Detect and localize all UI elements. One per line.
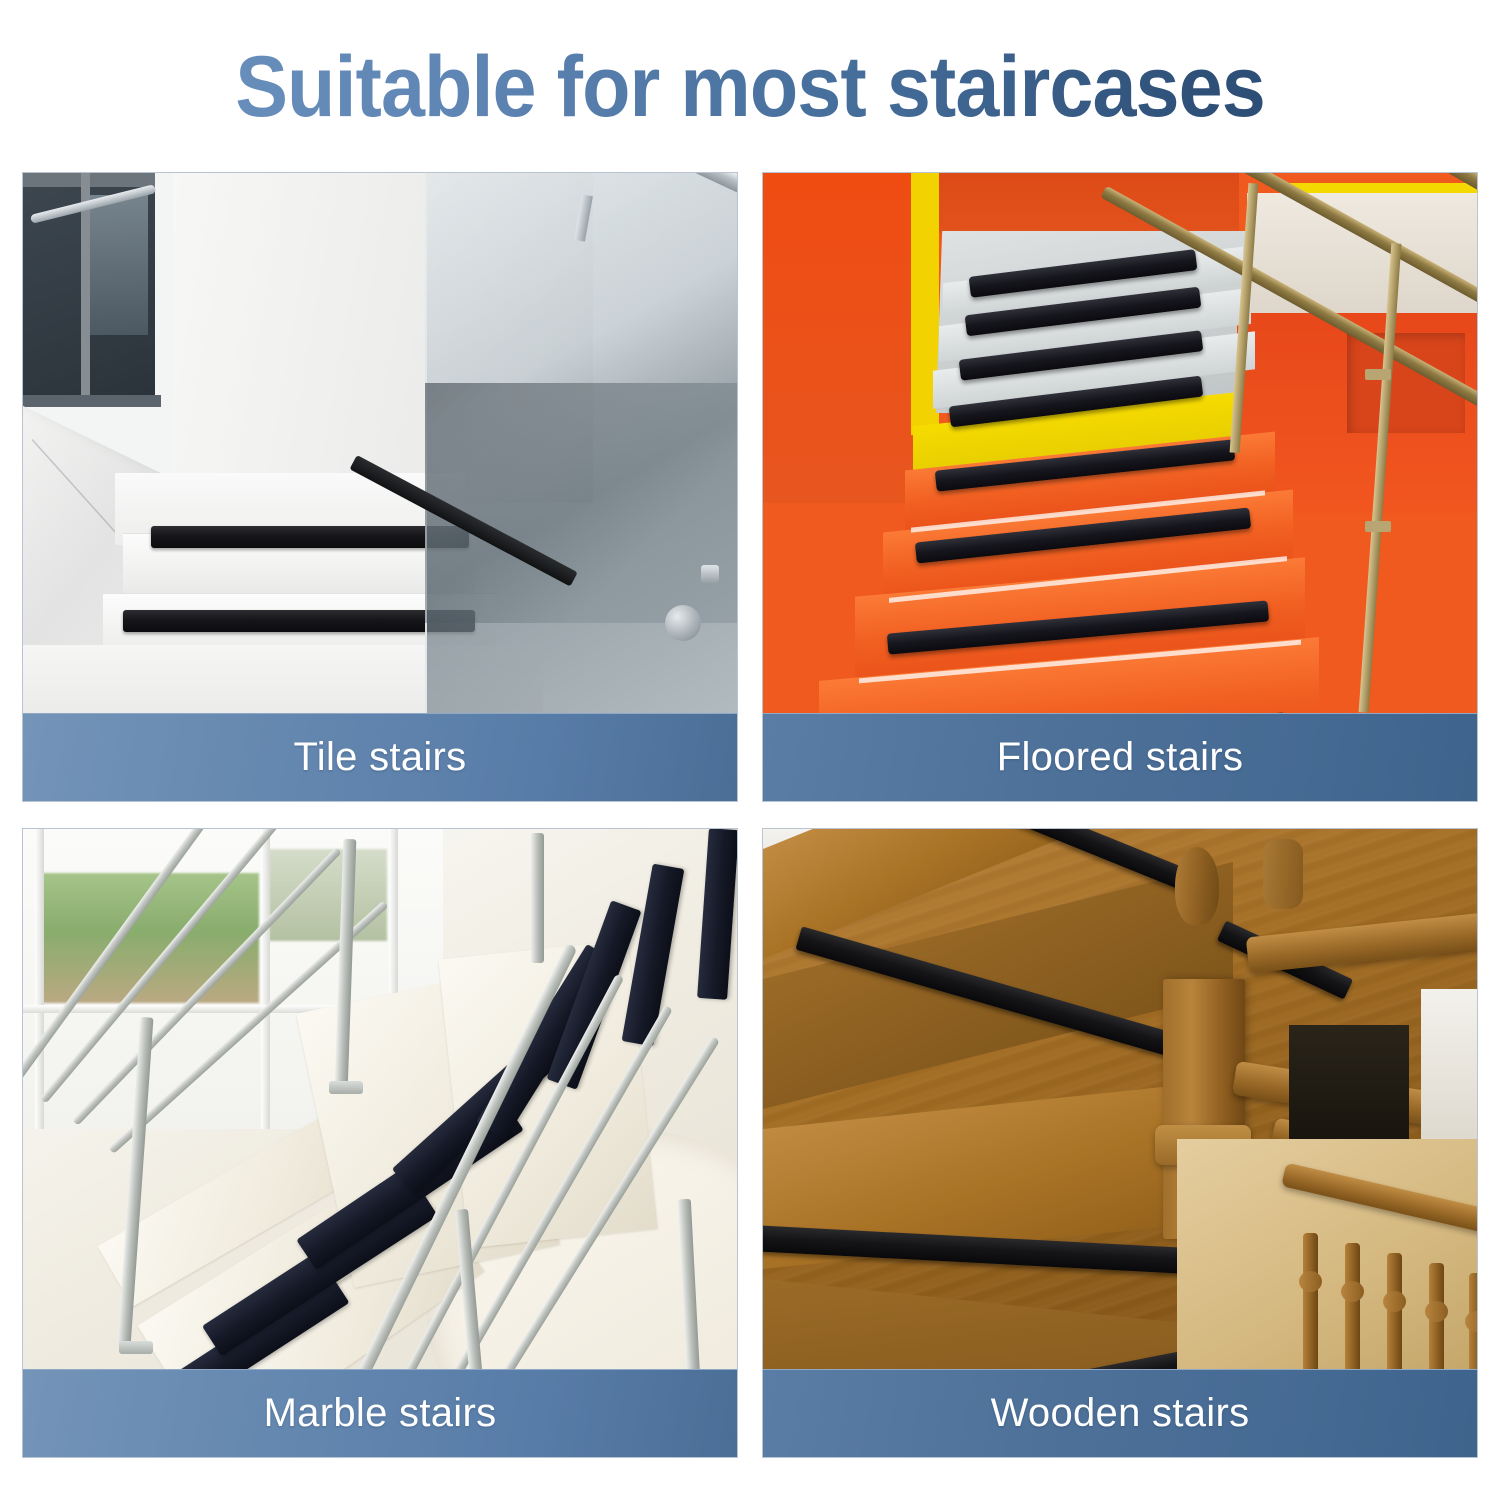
rail-bracket <box>1365 369 1391 380</box>
baluster <box>1387 1253 1402 1369</box>
baluster <box>1429 1263 1444 1369</box>
card-caption-tile-stairs: Tile stairs <box>23 713 737 801</box>
glass-reflection <box>425 383 737 623</box>
baluster <box>1303 1233 1318 1369</box>
page-title: Suitable for most staircases <box>60 44 1440 130</box>
left-orange-wall <box>763 173 913 503</box>
anti-slip-strip <box>151 526 469 548</box>
glass-fixing-disc <box>665 605 701 641</box>
anti-slip-strip <box>123 610 475 632</box>
back-orange-wall <box>939 173 1239 233</box>
scene-marble-stairs <box>23 829 737 1369</box>
card-caption-marble-stairs: Marble stairs <box>23 1369 737 1457</box>
window-glass <box>90 195 148 335</box>
photo-marble-stairs <box>23 829 737 1369</box>
scene-wooden-stairs <box>763 829 1477 1369</box>
dark-doorway <box>1289 1025 1409 1155</box>
window-mullion <box>261 829 270 1129</box>
baluster-bulb <box>1425 1301 1448 1322</box>
infographic-page: Suitable for most staircases <box>0 0 1500 1500</box>
card-marble-stairs[interactable]: Marble stairs <box>22 828 738 1458</box>
light-wall-panel <box>1421 989 1477 1149</box>
card-tile-stairs[interactable]: Tile stairs <box>22 172 738 802</box>
photo-wooden-stairs <box>763 829 1477 1369</box>
rail-post-base <box>329 1081 363 1094</box>
baluster <box>1345 1243 1360 1369</box>
newel-urn-secondary <box>1263 839 1303 909</box>
window-frame-bottom <box>23 395 161 407</box>
baluster-bulb <box>1341 1281 1364 1302</box>
staircase-card-grid: Tile stairs <box>22 172 1478 1478</box>
rail-post-base <box>119 1341 153 1354</box>
scene-floored-stairs <box>763 173 1477 713</box>
card-floored-stairs[interactable]: Floored stairs <box>762 172 1478 802</box>
glass-clamp <box>701 565 719 583</box>
window-mullion <box>35 829 44 1129</box>
card-caption-wooden-stairs: Wooden stairs <box>763 1369 1477 1457</box>
rail-bracket <box>1365 521 1391 532</box>
photo-floored-stairs <box>763 173 1477 713</box>
baluster-bulb <box>1299 1271 1322 1292</box>
card-caption-floored-stairs: Floored stairs <box>763 713 1477 801</box>
baluster-bulb <box>1383 1291 1406 1312</box>
newel-urn <box>1175 847 1219 925</box>
card-wooden-stairs[interactable]: Wooden stairs <box>762 828 1478 1458</box>
rail-post <box>531 833 544 963</box>
scene-tile-stairs <box>23 173 737 713</box>
photo-tile-stairs <box>23 173 737 713</box>
baluster <box>1469 1273 1477 1369</box>
